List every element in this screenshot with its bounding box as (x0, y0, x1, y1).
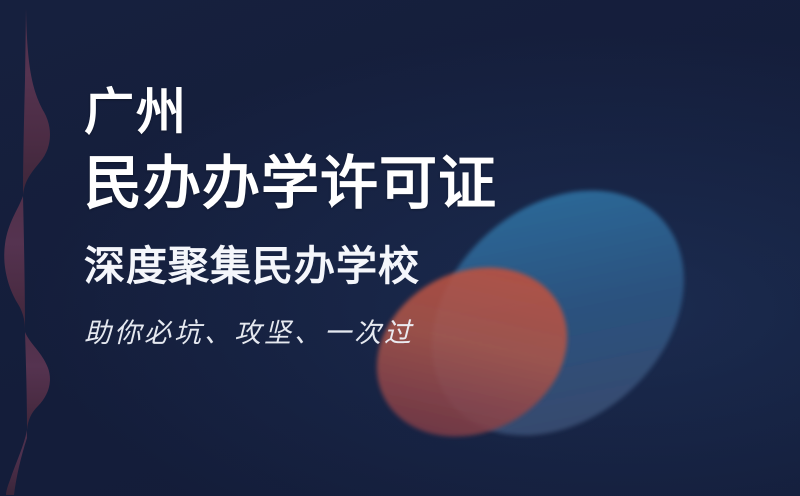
subheadline: 深度聚集民办学校 (84, 244, 704, 289)
ribbon-segment-third (25, 332, 50, 430)
headline-city: 广州 (84, 86, 704, 139)
promo-banner: 广州 民办办学许可证 深度聚集民办学校 助你必坑、攻坚、一次过 (0, 0, 800, 496)
slogan-text: 助你必坑、攻坚、一次过 (84, 319, 704, 349)
ribbon-segment-upper (23, 8, 50, 196)
ribbon-segment-second (4, 196, 25, 332)
headline-text-block: 广州 民办办学许可证 深度聚集民办学校 助你必坑、攻坚、一次过 (84, 86, 704, 348)
headline-main: 民办办学许可证 (84, 153, 704, 216)
left-ribbon-decoration (0, 0, 80, 496)
ribbon-segment-tail (6, 430, 27, 495)
